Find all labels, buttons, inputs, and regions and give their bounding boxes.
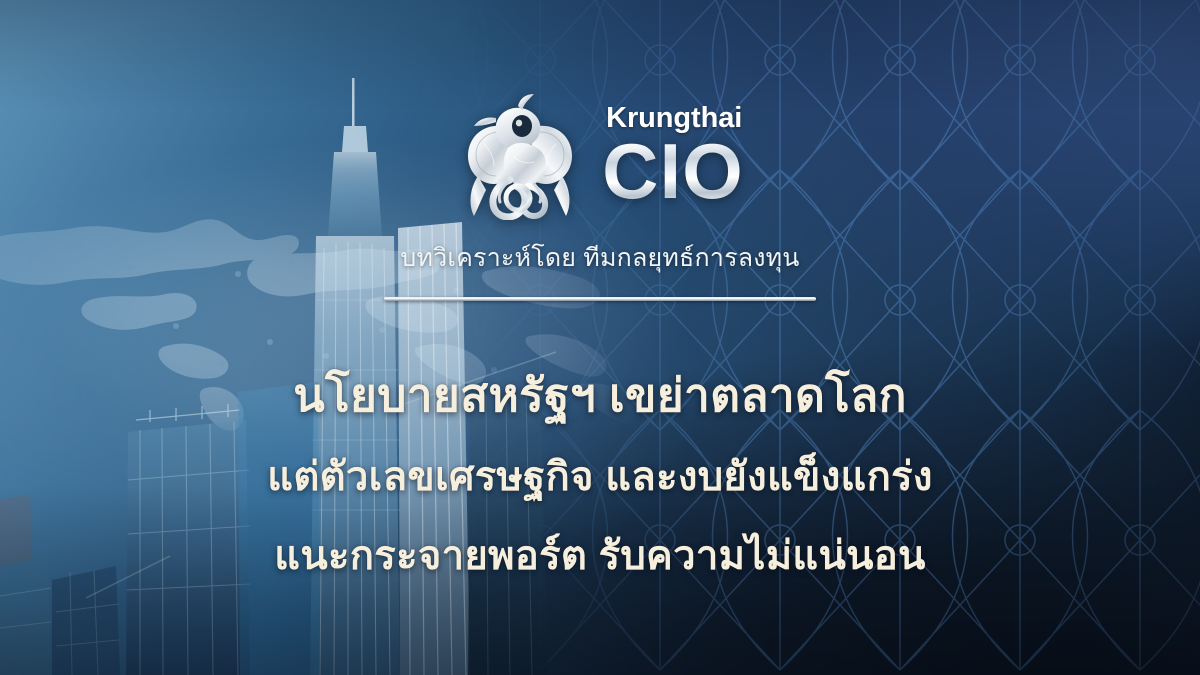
wordmark-cio: CIO: [602, 136, 744, 208]
tagline: บทวิเคราะห์โดย ทีมกลยุทธ์การลงทุน: [400, 238, 799, 278]
headline-block: นโยบายสหรัฐฯ เขย่าตลาดโลก แต่ตัวเลขเศรษฐ…: [0, 366, 1200, 583]
brand-block: Krungthai CIO บทวิเคราะห์โดย ทีมกลยุทธ์ก…: [0, 92, 1200, 301]
headline-line-2: แต่ตัวเลขเศรษฐกิจ และงบยังแข็งแกร่ง: [267, 450, 933, 504]
divider: [384, 297, 816, 301]
banner-stage: Krungthai CIO บทวิเคราะห์โดย ทีมกลยุทธ์ก…: [0, 0, 1200, 675]
headline-line-1: นโยบายสหรัฐฯ เขย่าตลาดโลก: [293, 366, 907, 424]
logo-row: Krungthai CIO: [456, 92, 744, 220]
wordmark: Krungthai CIO: [602, 104, 744, 208]
banner-content: Krungthai CIO บทวิเคราะห์โดย ทีมกลยุทธ์ก…: [0, 0, 1200, 675]
headline-line-3: แนะกระจายพอร์ต รับความไม่แน่นอน: [274, 529, 925, 583]
krungthai-garuda-icon: [456, 92, 584, 220]
